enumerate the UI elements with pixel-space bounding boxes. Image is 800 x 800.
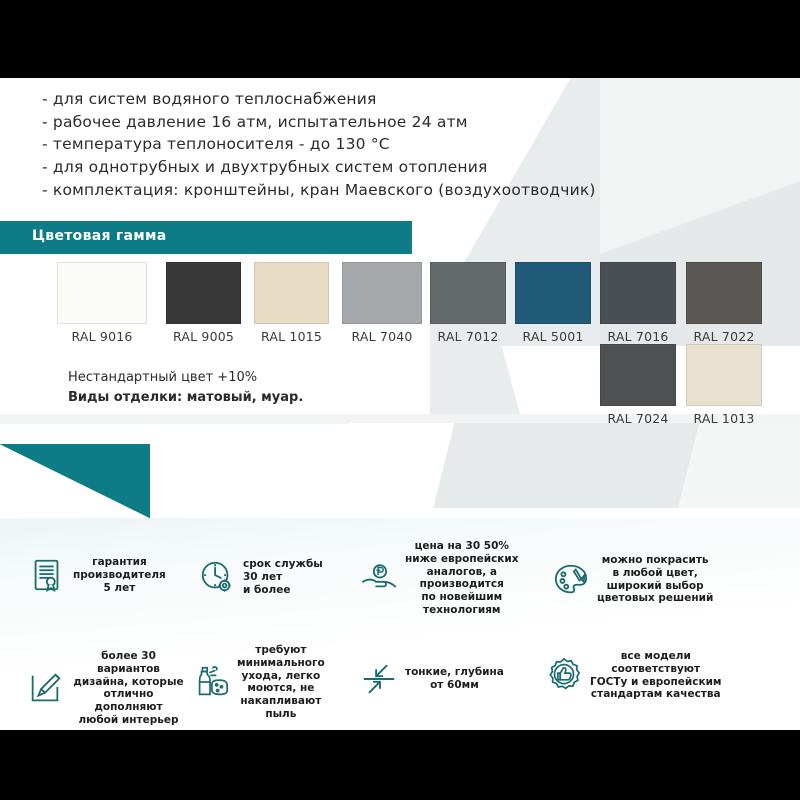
feature-label: срок службы 30 лет и более bbox=[243, 558, 323, 596]
feature-item-design: более 30 вариантов дизайна, которые отли… bbox=[26, 650, 186, 727]
feature-label: все модели соответствуют ГОСТу и европей… bbox=[590, 650, 722, 701]
swatch-chip bbox=[686, 344, 762, 406]
feature-item-depth: тонкие, глубина от 60мм bbox=[360, 660, 515, 698]
feature-item-maintenance: требуют минимального ухода, легко моются… bbox=[192, 644, 332, 721]
swatch-chip bbox=[600, 344, 676, 406]
color-swatch[interactable]: RAL 7024 bbox=[600, 344, 676, 426]
paint-palette-icon bbox=[552, 561, 590, 599]
feature-item-warranty: гарантия производителя 5 лет bbox=[28, 556, 178, 594]
feature-label: более 30 вариантов дизайна, которые отли… bbox=[71, 650, 186, 727]
feature-label: можно покрасить в любой цвет, широкий вы… bbox=[597, 554, 713, 605]
slide-canvas: - для систем водяного теплоснабжения - р… bbox=[0, 78, 800, 730]
feature-item-price: цена на 30 50% ниже европейских аналогов… bbox=[360, 540, 535, 617]
clock-gear-icon bbox=[198, 558, 236, 596]
color-note-line-2: Виды отделки: матовый, муар. bbox=[68, 388, 303, 408]
feature-item-quality: все модели соответствуют ГОСТу и европей… bbox=[545, 650, 745, 701]
quality-thumbsup-icon bbox=[545, 657, 583, 695]
pencil-design-icon bbox=[26, 669, 64, 707]
spray-sponge-icon bbox=[192, 663, 230, 701]
swatch-label: RAL 1013 bbox=[686, 411, 762, 426]
feature-item-lifespan: срок службы 30 лет и более bbox=[198, 558, 338, 596]
certificate-icon bbox=[28, 556, 66, 594]
feature-item-paintable: можно покрасить в любой цвет, широкий вы… bbox=[552, 554, 722, 605]
color-note-line-1: Нестандартный цвет +10% bbox=[68, 368, 303, 388]
feature-label: тонкие, глубина от 60мм bbox=[405, 666, 504, 692]
hand-ruble-icon bbox=[360, 559, 398, 597]
color-note: Нестандартный цвет +10% Виды отделки: ма… bbox=[68, 368, 303, 408]
color-swatch[interactable]: RAL 1013 bbox=[686, 344, 762, 426]
feature-label: цена на 30 50% ниже европейских аналогов… bbox=[405, 540, 519, 617]
feature-label: гарантия производителя 5 лет bbox=[73, 556, 166, 594]
feature-label: требуют минимального ухода, легко моются… bbox=[237, 644, 325, 721]
depth-arrows-icon bbox=[360, 660, 398, 698]
swatch-label: RAL 7024 bbox=[600, 411, 676, 426]
